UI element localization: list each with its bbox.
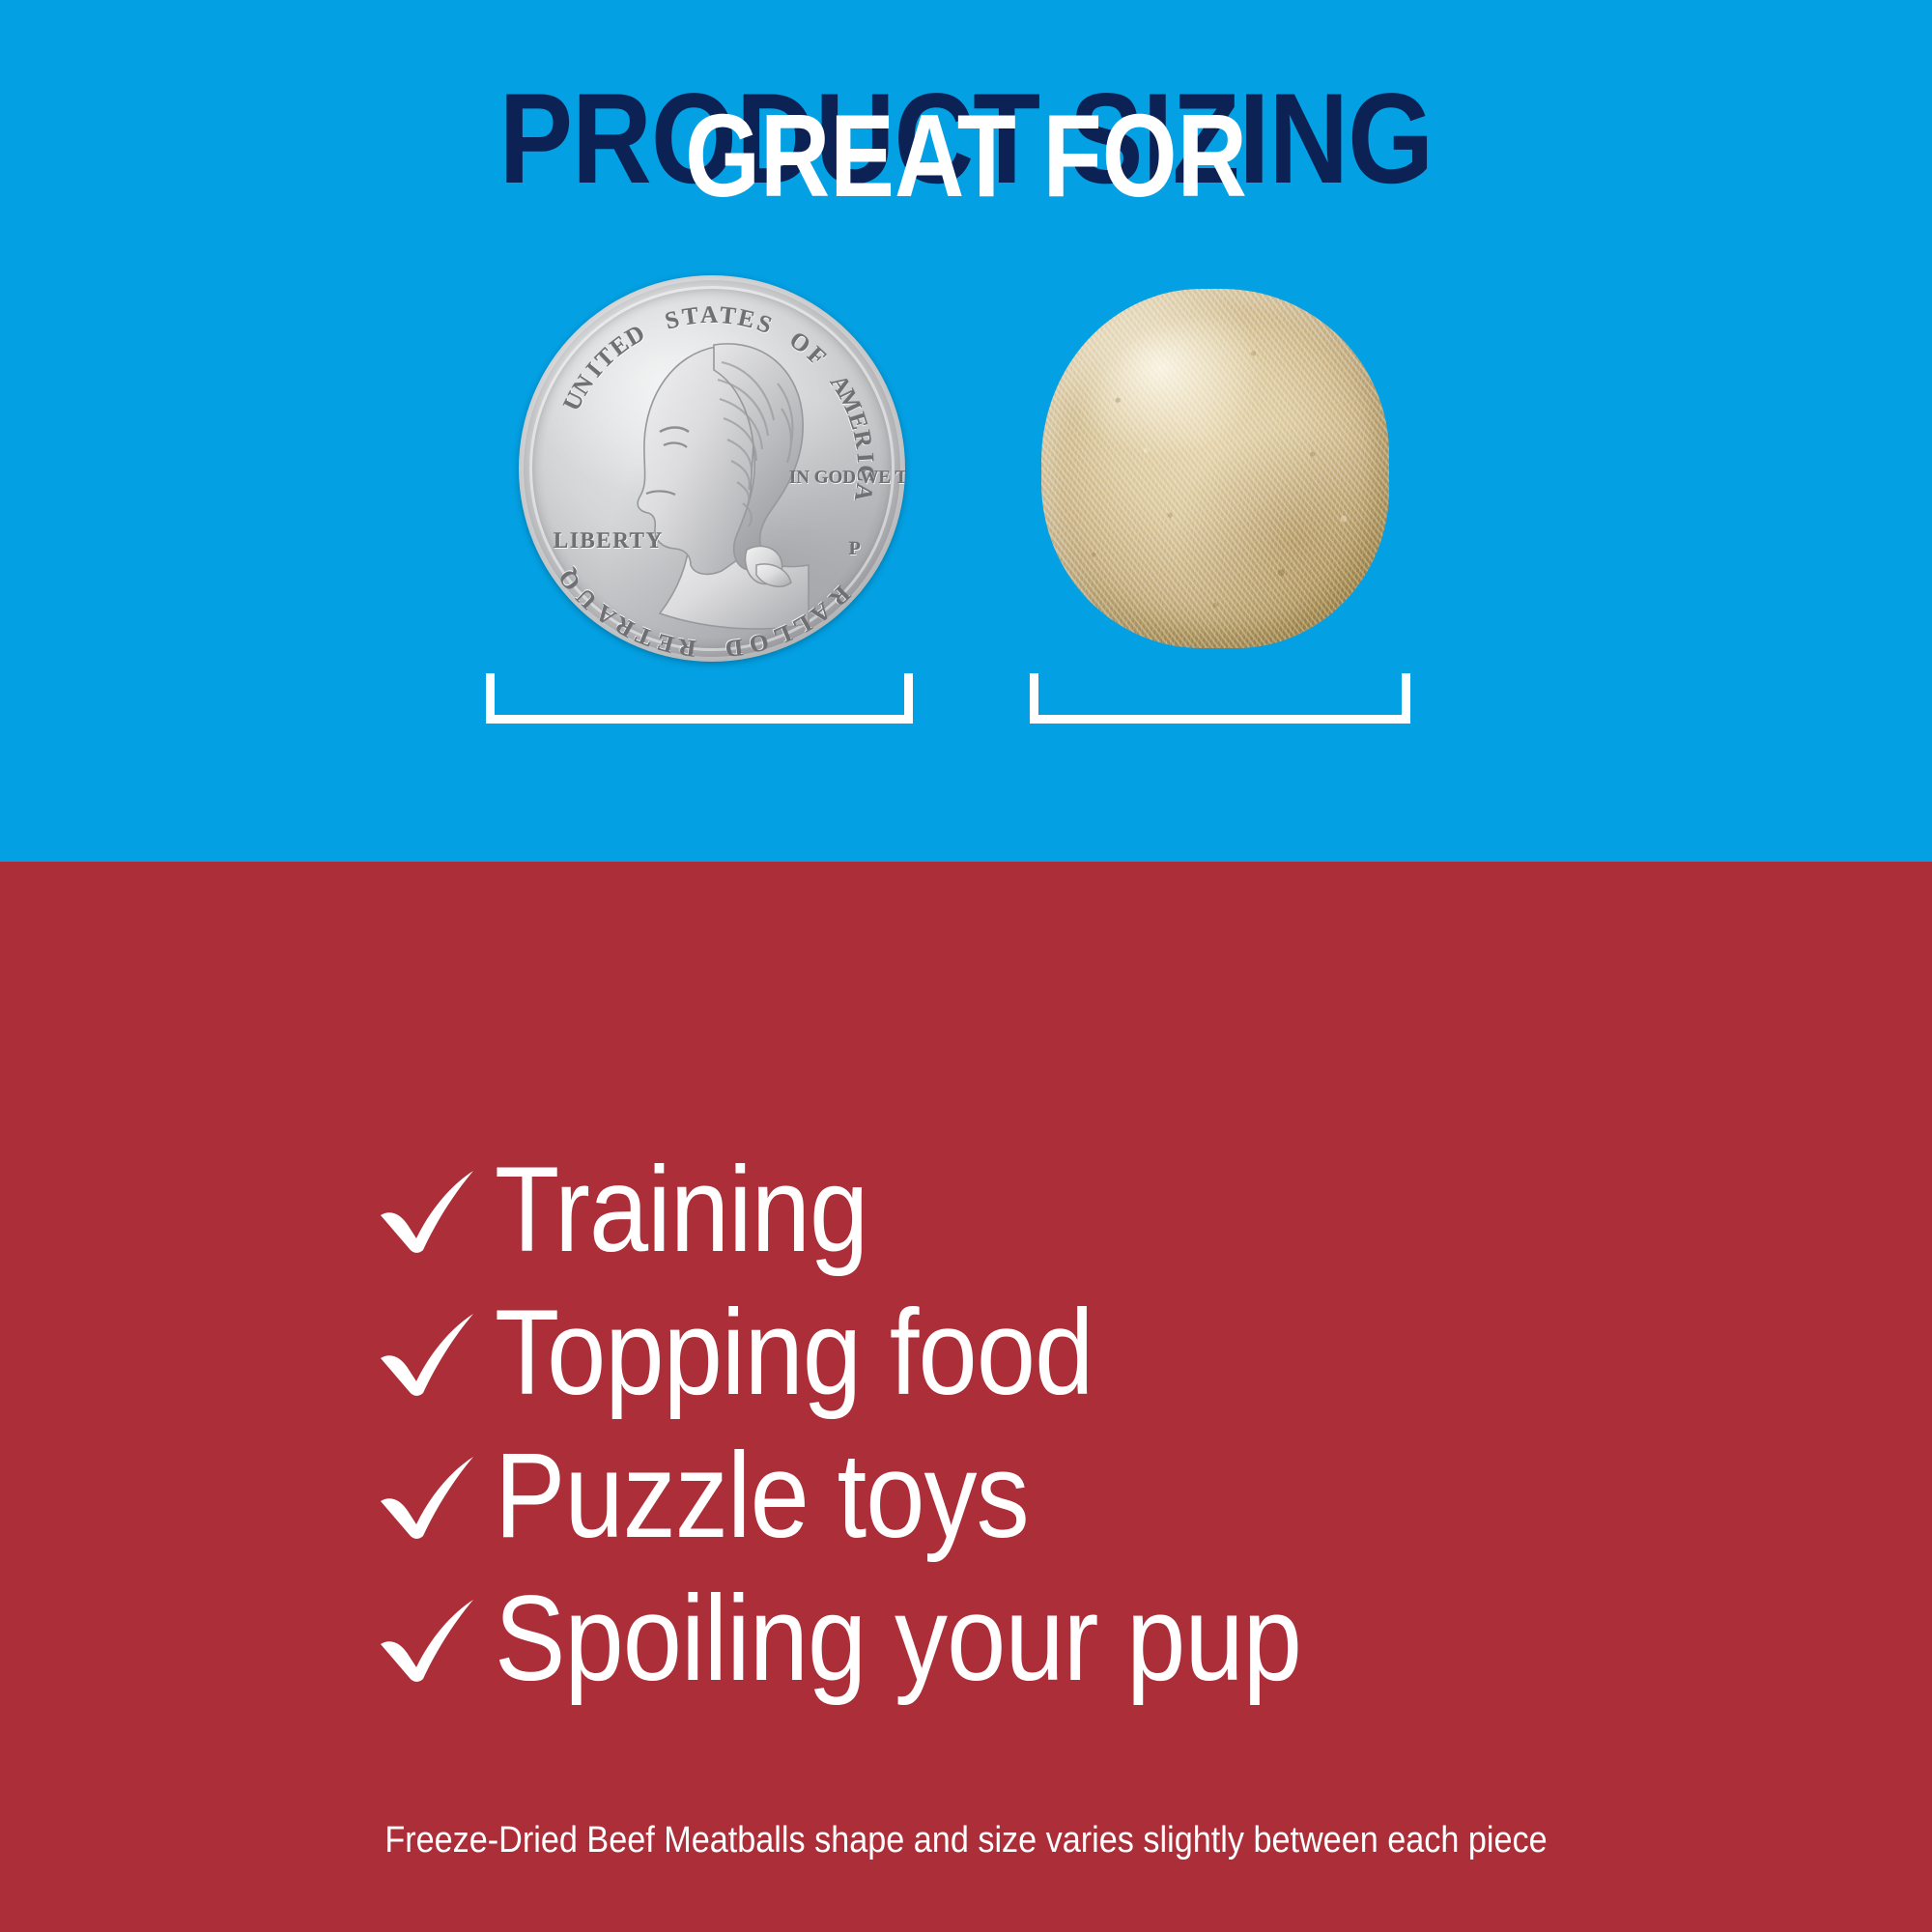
coin-legend-quarter-dollar: Q U A R T E R D O L L A R <box>519 275 905 662</box>
meatball-body <box>1041 289 1389 648</box>
freeze-dried-beef-meatball-image <box>1041 289 1389 648</box>
list-item: Topping food <box>377 1281 1729 1424</box>
size-bracket-meatball <box>1030 673 1410 724</box>
list-item: Training <box>377 1138 1729 1281</box>
list-item-label: Spoiling your pup <box>495 1578 1301 1699</box>
product-sizing-infographic: PRODUCT SIZING <box>0 0 1932 1932</box>
size-bracket-quarter <box>486 673 913 724</box>
list-item-label: Puzzle toys <box>495 1435 1029 1556</box>
list-item-label: Training <box>495 1150 867 1270</box>
list-item-label: Topping food <box>495 1293 1093 1413</box>
checkmark-icon <box>377 1308 483 1397</box>
us-quarter-coin-image: U N I T E D S T A T E S O F <box>519 275 905 662</box>
list-item: Puzzle toys <box>377 1424 1729 1567</box>
product-disclaimer: Freeze-Dried Beef Meatballs shape and si… <box>97 1819 1835 1863</box>
size-comparison-row: U N I T E D S T A T E S O F <box>0 275 1932 681</box>
checkmark-icon <box>377 1165 483 1254</box>
list-item: Spoiling your pup <box>377 1567 1729 1710</box>
checkmark-icon <box>377 1594 483 1683</box>
meatball-texture-speckle <box>1041 289 1389 648</box>
checkmark-icon <box>377 1451 483 1540</box>
great-for-list: Training Topping food Puzzle toys Spoili… <box>377 1138 1729 1710</box>
great-for-title: GREAT FOR <box>174 97 1758 214</box>
